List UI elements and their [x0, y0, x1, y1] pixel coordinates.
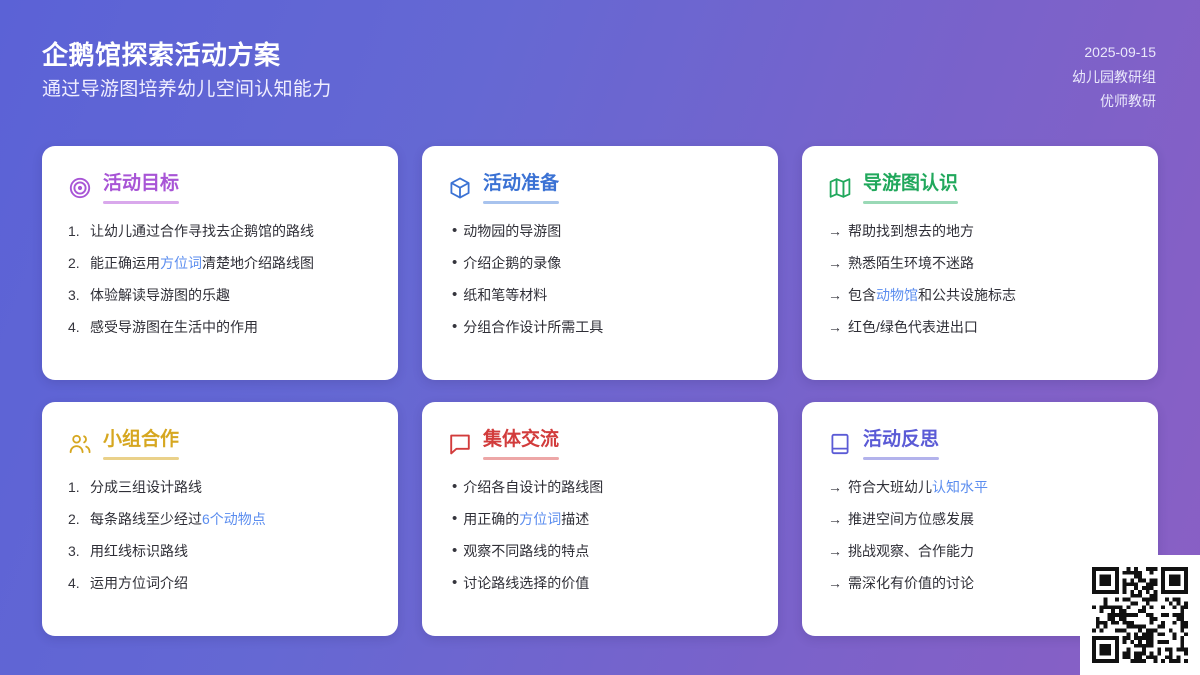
list-marker: 4.: [68, 573, 84, 594]
highlighted-term: 认知水平: [932, 479, 988, 495]
card-title-underline: [103, 457, 179, 460]
meta-organization: 幼儿园教研组: [1072, 67, 1156, 89]
list-marker: 2.: [68, 253, 84, 274]
list-item: 4.运用方位词介绍: [68, 573, 374, 594]
card-5: 集体交流•介绍各自设计的路线图•用正确的方位词描述•观察不同路线的特点•讨论路线…: [422, 402, 778, 636]
card-list: 1.让幼儿通过合作寻找去企鹅馆的路线2.能正确运用方位词清楚地介绍路线图3.体验…: [68, 221, 374, 349]
list-item-text: 熟悉陌生环境不迷路: [848, 253, 1134, 274]
card-header: 活动准备: [448, 172, 754, 204]
list-item-text: 每条路线至少经过6个动物点: [90, 509, 374, 530]
card-header: 活动反思: [828, 428, 1134, 460]
list-marker: →: [828, 285, 842, 306]
list-item: →包含动物馆和公共设施标志: [828, 285, 1134, 306]
list-item: •观察不同路线的特点: [448, 541, 754, 562]
list-item: •纸和笔等材料: [448, 285, 754, 306]
card-4: 小组合作1.分成三组设计路线2.每条路线至少经过6个动物点3.用红线标识路线4.…: [42, 402, 398, 636]
plain-text: 描述: [561, 511, 589, 527]
list-item-text: 介绍各自设计的路线图: [463, 477, 754, 498]
list-item: •讨论路线选择的价值: [448, 573, 754, 594]
plain-text: 红色/绿色代表进出口: [848, 319, 978, 335]
list-item: 2.能正确运用方位词清楚地介绍路线图: [68, 253, 374, 274]
list-item-text: 包含动物馆和公共设施标志: [848, 285, 1134, 306]
list-marker: →: [828, 221, 842, 242]
list-item-text: 纸和笔等材料: [463, 285, 754, 306]
plain-text: 分组合作设计所需工具: [463, 319, 603, 335]
list-item-text: 动物园的导游图: [463, 221, 754, 242]
plain-text: 帮助找到想去的地方: [848, 223, 974, 239]
list-item: •介绍企鹅的录像: [448, 253, 754, 274]
card-header: 集体交流: [448, 428, 754, 460]
plain-text: 观察不同路线的特点: [463, 543, 589, 559]
list-item-text: 推进空间方位感发展: [848, 509, 1134, 530]
plain-text: 能正确运用: [90, 255, 160, 271]
plain-text: 运用方位词介绍: [90, 575, 188, 591]
card-title-underline: [103, 201, 179, 204]
list-item: •分组合作设计所需工具: [448, 317, 754, 338]
list-marker: •: [448, 317, 457, 338]
list-item-text: 让幼儿通过合作寻找去企鹅馆的路线: [90, 221, 374, 242]
card-3: 导游图认识→帮助找到想去的地方→熟悉陌生环境不迷路→包含动物馆和公共设施标志→红…: [802, 146, 1158, 380]
card-title-underline: [863, 201, 958, 204]
users-icon: [68, 432, 92, 456]
list-item-text: 帮助找到想去的地方: [848, 221, 1134, 242]
plain-text: 讨论路线选择的价值: [463, 575, 589, 591]
list-marker: 1.: [68, 477, 84, 498]
plain-text: 和公共设施标志: [918, 287, 1016, 303]
list-marker: →: [828, 509, 842, 530]
list-item-text: 分成三组设计路线: [90, 477, 374, 498]
list-item: →熟悉陌生环境不迷路: [828, 253, 1134, 274]
card-title-wrap: 集体交流: [483, 428, 559, 460]
list-item-text: 用红线标识路线: [90, 541, 374, 562]
list-item: →帮助找到想去的地方: [828, 221, 1134, 242]
list-marker: 3.: [68, 285, 84, 306]
book-icon: [828, 432, 852, 456]
card-list: →帮助找到想去的地方→熟悉陌生环境不迷路→包含动物馆和公共设施标志→红色/绿色代…: [828, 221, 1134, 349]
list-marker: →: [828, 573, 842, 594]
plain-text: 清楚地介绍路线图: [202, 255, 314, 271]
plain-text: 感受导游图在生活中的作用: [90, 319, 258, 335]
list-item-text: 能正确运用方位词清楚地介绍路线图: [90, 253, 374, 274]
card-1: 活动目标1.让幼儿通过合作寻找去企鹅馆的路线2.能正确运用方位词清楚地介绍路线图…: [42, 146, 398, 380]
card-title: 集体交流: [483, 428, 559, 452]
list-marker: 4.: [68, 317, 84, 338]
list-marker: 2.: [68, 509, 84, 530]
plain-text: 分成三组设计路线: [90, 479, 202, 495]
card-title: 活动准备: [483, 172, 559, 196]
card-title-underline: [863, 457, 939, 460]
qr-code: [1092, 567, 1188, 663]
highlighted-term: 6个动物点: [202, 511, 266, 527]
list-item: 1.分成三组设计路线: [68, 477, 374, 498]
list-item: 2.每条路线至少经过6个动物点: [68, 509, 374, 530]
card-2: 活动准备•动物园的导游图•介绍企鹅的录像•纸和笔等材料•分组合作设计所需工具: [422, 146, 778, 380]
list-marker: •: [448, 541, 457, 562]
list-marker: •: [448, 477, 457, 498]
list-marker: 1.: [68, 221, 84, 242]
list-marker: •: [448, 573, 457, 594]
list-marker: 3.: [68, 541, 84, 562]
list-item-text: 用正确的方位词描述: [463, 509, 754, 530]
list-item-text: 介绍企鹅的录像: [463, 253, 754, 274]
map-icon: [828, 176, 852, 200]
header-meta-block: 2025-09-15 幼儿园教研组 优师教研: [1072, 38, 1156, 113]
list-item: •动物园的导游图: [448, 221, 754, 242]
card-title-underline: [483, 201, 559, 204]
list-item: 3.体验解读导游图的乐趣: [68, 285, 374, 306]
page-title: 企鹅馆探索活动方案: [42, 38, 332, 72]
plain-text: 让幼儿通过合作寻找去企鹅馆的路线: [90, 223, 314, 239]
card-title-wrap: 小组合作: [103, 428, 179, 460]
card-header: 活动目标: [68, 172, 374, 204]
plain-text: 体验解读导游图的乐趣: [90, 287, 230, 303]
meta-date: 2025-09-15: [1084, 42, 1156, 64]
highlighted-term: 方位词: [160, 255, 202, 271]
card-title-wrap: 导游图认识: [863, 172, 958, 204]
card-list: 1.分成三组设计路线2.每条路线至少经过6个动物点3.用红线标识路线4.运用方位…: [68, 477, 374, 605]
card-title: 小组合作: [103, 428, 179, 452]
page-subtitle: 通过导游图培养幼儿空间认知能力: [42, 76, 332, 105]
highlighted-term: 动物馆: [876, 287, 918, 303]
plain-text: 挑战观察、合作能力: [848, 543, 974, 559]
qr-code-panel[interactable]: [1080, 555, 1200, 675]
plain-text: 包含: [848, 287, 876, 303]
card-title: 导游图认识: [863, 172, 958, 196]
list-marker: •: [448, 253, 457, 274]
list-item: →推进空间方位感发展: [828, 509, 1134, 530]
list-item-text: 红色/绿色代表进出口: [848, 317, 1134, 338]
list-item: •用正确的方位词描述: [448, 509, 754, 530]
plain-text: 介绍各自设计的路线图: [463, 479, 603, 495]
plain-text: 动物园的导游图: [463, 223, 561, 239]
list-item-text: 体验解读导游图的乐趣: [90, 285, 374, 306]
card-title-wrap: 活动准备: [483, 172, 559, 204]
card-header: 导游图认识: [828, 172, 1134, 204]
slide-header: 企鹅馆探索活动方案 通过导游图培养幼儿空间认知能力 2025-09-15 幼儿园…: [0, 0, 1200, 132]
meta-source: 优师教研: [1100, 91, 1156, 113]
list-marker: →: [828, 317, 842, 338]
list-item: •介绍各自设计的路线图: [448, 477, 754, 498]
list-item-text: 观察不同路线的特点: [463, 541, 754, 562]
list-item-text: 讨论路线选择的价值: [463, 573, 754, 594]
card-list: •动物园的导游图•介绍企鹅的录像•纸和笔等材料•分组合作设计所需工具: [448, 221, 754, 349]
list-marker: •: [448, 509, 457, 530]
card-title: 活动目标: [103, 172, 179, 196]
card-header: 小组合作: [68, 428, 374, 460]
list-marker: •: [448, 285, 457, 306]
card-title: 活动反思: [863, 428, 939, 452]
card-title-wrap: 活动反思: [863, 428, 939, 460]
plain-text: 符合大班幼儿: [848, 479, 932, 495]
list-item: →红色/绿色代表进出口: [828, 317, 1134, 338]
list-item-text: 符合大班幼儿认知水平: [848, 477, 1134, 498]
plain-text: 推进空间方位感发展: [848, 511, 974, 527]
plain-text: 每条路线至少经过: [90, 511, 202, 527]
plain-text: 熟悉陌生环境不迷路: [848, 255, 974, 271]
plain-text: 需深化有价值的讨论: [848, 575, 974, 591]
highlighted-term: 方位词: [519, 511, 561, 527]
package-icon: [448, 176, 472, 200]
list-item-text: 运用方位词介绍: [90, 573, 374, 594]
list-marker: →: [828, 253, 842, 274]
card-grid: 活动目标1.让幼儿通过合作寻找去企鹅馆的路线2.能正确运用方位词清楚地介绍路线图…: [42, 146, 1160, 636]
card-title-underline: [483, 457, 559, 460]
plain-text: 介绍企鹅的录像: [463, 255, 561, 271]
list-marker: →: [828, 477, 842, 498]
list-marker: •: [448, 221, 457, 242]
card-title-wrap: 活动目标: [103, 172, 179, 204]
card-list: •介绍各自设计的路线图•用正确的方位词描述•观察不同路线的特点•讨论路线选择的价…: [448, 477, 754, 605]
list-item: →符合大班幼儿认知水平: [828, 477, 1134, 498]
message-square-icon: [448, 432, 472, 456]
plain-text: 用红线标识路线: [90, 543, 188, 559]
plain-text: 用正确的: [463, 511, 519, 527]
list-marker: →: [828, 541, 842, 562]
list-item: 1.让幼儿通过合作寻找去企鹅馆的路线: [68, 221, 374, 242]
list-item: 4.感受导游图在生活中的作用: [68, 317, 374, 338]
list-item-text: 分组合作设计所需工具: [463, 317, 754, 338]
list-item: 3.用红线标识路线: [68, 541, 374, 562]
header-title-block: 企鹅馆探索活动方案 通过导游图培养幼儿空间认知能力: [42, 38, 332, 105]
list-item-text: 感受导游图在生活中的作用: [90, 317, 374, 338]
target-icon: [68, 176, 92, 200]
plain-text: 纸和笔等材料: [463, 287, 547, 303]
